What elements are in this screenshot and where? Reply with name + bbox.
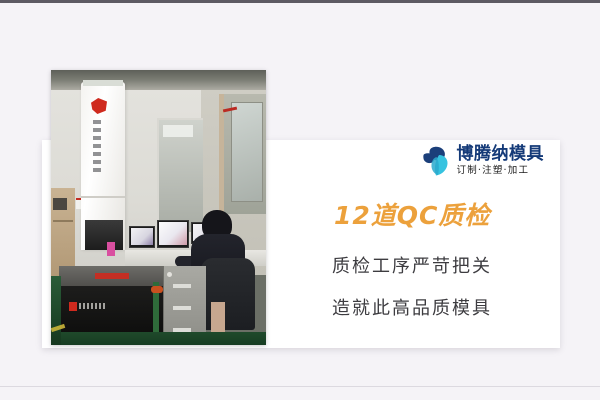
photo-machine-base-logotext [79,303,107,309]
photo-drawer-handle-1 [173,284,191,288]
photo-window-pane [231,102,263,202]
photo-scene [51,70,266,345]
photo-door-light [163,125,193,137]
bottom-divider [0,386,600,387]
photo-cmm-head [85,220,123,250]
qc-lab-photo [51,70,266,345]
leaf-cross-logo-icon [422,146,450,176]
photo-floor-left [51,276,61,345]
marketing-copy-column: 博腾纳模具 订制·注塑·加工 12道QC质检 质检工序严苛把关 造就此高品质模具 [318,140,560,348]
photo-cmm-seam [81,196,125,198]
brand-logo: 博腾纳模具 订制·注塑·加工 [422,146,545,176]
photo-office-chair [201,258,255,330]
photo-machine-brand-label [95,273,129,279]
brand-wordmark: 博腾纳模具 订制·注塑·加工 [457,146,545,176]
photo-cabinet-shadow [53,198,67,210]
photo-cabinet-shelf [53,220,73,222]
body-line-2: 造就此高品质模具 [332,300,492,318]
photo-cmm-probe [107,242,115,256]
photo-cmm-vertical-text [93,120,101,172]
photo-monitor-left-screen [131,228,153,245]
photo-drawer-handle-2 [173,306,191,310]
body-copy: 质检工序严苛把关 造就此高品质模具 [332,258,492,318]
brand-name: 博腾纳模具 [457,144,545,164]
photo-floor [51,332,266,345]
photo-cabinet-lock [167,272,172,277]
top-chrome-bar [0,0,600,3]
photo-machine-base-logo [69,302,77,311]
photo-cmm-cap [83,80,123,86]
page-title: 12道QC质检 [334,196,490,232]
body-line-1: 质检工序严苛把关 [332,258,492,276]
brand-tagline: 订制·注塑·加工 [457,166,545,176]
photo-monitor-center-screen [159,222,187,245]
photo-cart-handle [151,286,163,293]
